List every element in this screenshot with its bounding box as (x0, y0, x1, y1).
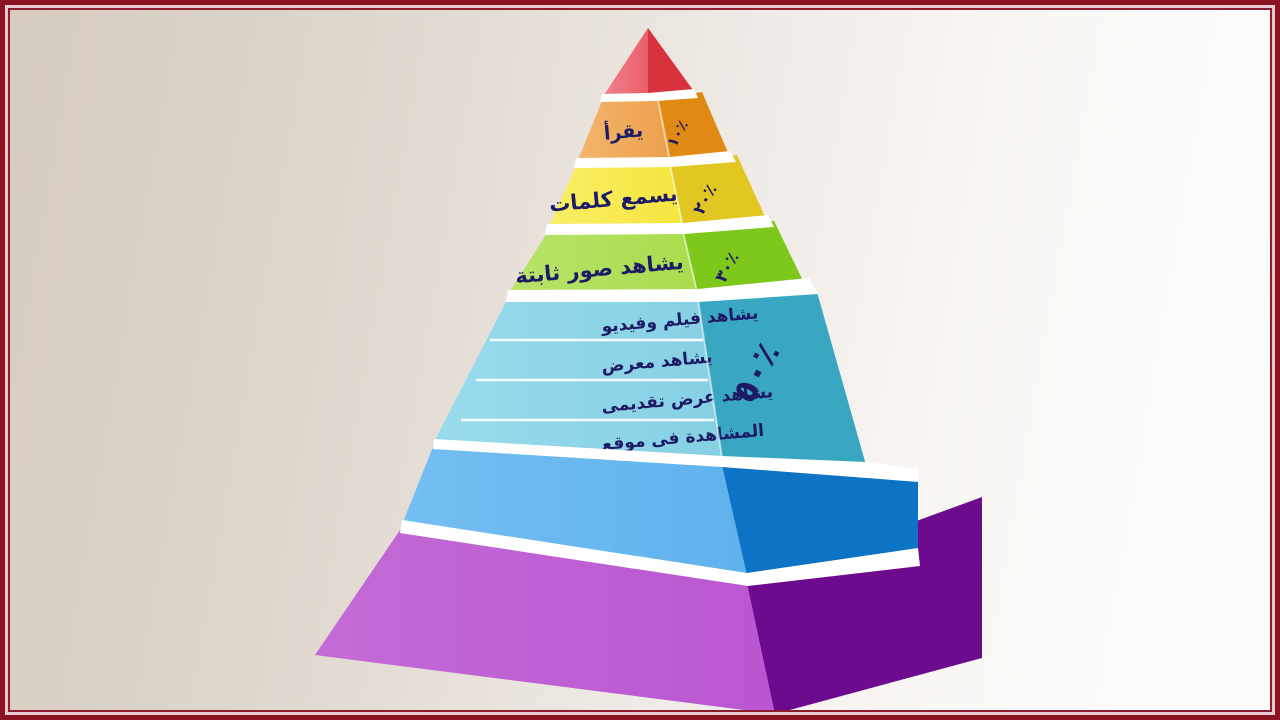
learning-pyramid-diagram: يقرأ يسمع كلمات يشاهد صور ثابتة يشاهد في… (10, 10, 1272, 712)
level-orange-label: يقرأ (603, 117, 644, 144)
level-red-front-face (604, 28, 648, 95)
level-orange-side-face (658, 92, 729, 159)
slide-canvas: يقرأ يسمع كلمات يشاهد صور ثابتة يشاهد في… (8, 8, 1272, 712)
presentation-slide: يقرأ يسمع كلمات يشاهد صور ثابتة يشاهد في… (0, 0, 1280, 720)
level-red-side-face (648, 28, 693, 94)
pyramid-level-red-apex[interactable] (604, 28, 693, 95)
pyramid-level-orange[interactable] (578, 92, 729, 160)
